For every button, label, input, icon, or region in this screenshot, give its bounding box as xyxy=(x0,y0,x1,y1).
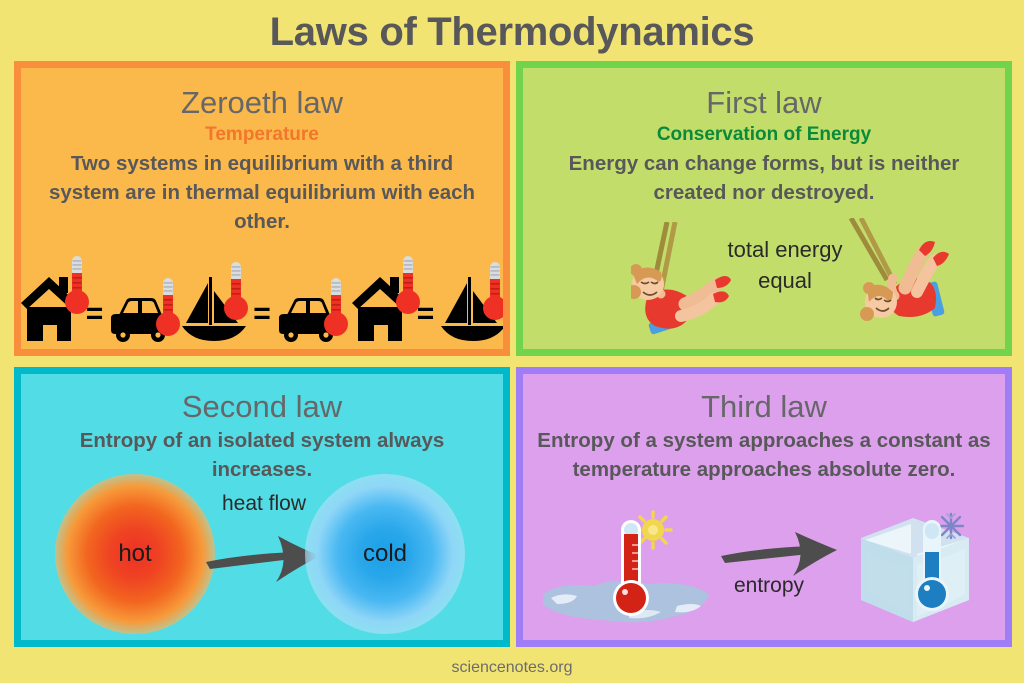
panel-second-law: Second law Entropy of an isolated system… xyxy=(14,367,510,647)
thermometer-icon xyxy=(224,261,248,323)
ice-cube-thermometer-icon xyxy=(851,504,979,637)
thermometer-icon xyxy=(483,261,507,323)
third-law-body: Entropy of a system approaches a constan… xyxy=(523,426,1005,484)
page-title: Laws of Thermodynamics xyxy=(0,8,1024,56)
icon-pair-house-boat: = xyxy=(346,269,510,343)
entropy-label: entropy xyxy=(699,574,839,598)
house-icon xyxy=(346,269,414,343)
hot-thermometer-puddle-icon xyxy=(537,508,717,639)
second-law-title: Second law xyxy=(21,374,503,426)
girl-on-swing-icon xyxy=(843,218,971,355)
first-law-body: Energy can change forms, but is neither … xyxy=(523,149,1005,207)
zeroeth-law-icon-row: = xyxy=(21,269,503,343)
icon-pair-house-car: = xyxy=(15,269,175,343)
sailboat-icon xyxy=(437,271,509,343)
cold-blob-icon: cold xyxy=(305,474,465,634)
panel-third-law: Third law Entropy of a system approaches… xyxy=(516,367,1012,647)
footer-credit: sciencenotes.org xyxy=(0,659,1024,677)
thermometer-icon xyxy=(65,255,89,317)
car-icon xyxy=(274,291,342,343)
infographic-canvas: Laws of Thermodynamics Zeroeth law Tempe… xyxy=(0,0,1024,683)
third-law-title: Third law xyxy=(523,374,1005,426)
car-icon xyxy=(106,291,174,343)
panel-zeroeth-law: Zeroeth law Temperature Two systems in e… xyxy=(14,61,510,356)
third-law-illustration: entropy xyxy=(523,502,1005,640)
cold-label: cold xyxy=(363,540,407,568)
equals-sign: = xyxy=(252,299,272,343)
sailboat-icon xyxy=(178,271,250,343)
first-law-illustration: total energy equal xyxy=(523,218,1005,350)
first-law-subtitle: Conservation of Energy xyxy=(523,122,1005,147)
house-icon xyxy=(15,269,83,343)
zeroeth-law-subtitle: Temperature xyxy=(21,122,503,147)
thermometer-icon xyxy=(396,255,420,317)
thermometer-icon xyxy=(156,277,180,339)
total-energy-equal-label: total energy equal xyxy=(725,234,845,296)
thermometer-icon xyxy=(324,277,348,339)
second-law-illustration: hot heat flow cold xyxy=(21,470,503,640)
zeroeth-law-body: Two systems in equilibrium with a third … xyxy=(21,149,503,236)
first-law-title: First law xyxy=(523,68,1005,122)
zeroeth-law-title: Zeroeth law xyxy=(21,68,503,122)
panel-first-law: First law Conservation of Energy Energy … xyxy=(516,61,1012,356)
icon-pair-boat-car: = xyxy=(178,271,342,343)
hot-label: hot xyxy=(118,540,151,568)
